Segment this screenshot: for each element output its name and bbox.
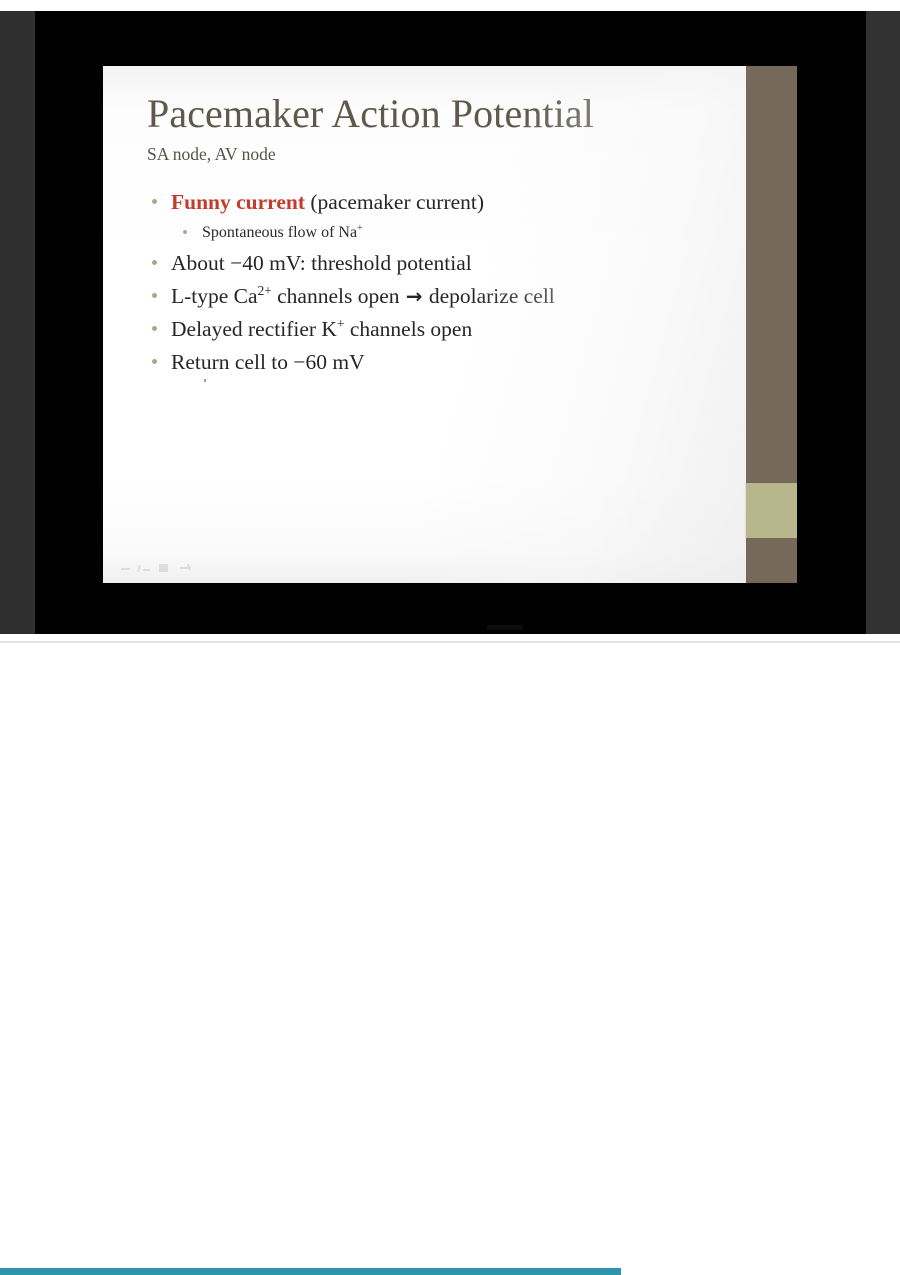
text-run: About −40 mV: threshold potential: [171, 251, 472, 275]
bullet-dot-icon: [152, 293, 157, 298]
slide-subtitle: SA node, AV node: [147, 144, 276, 165]
slide-sidebar-band-bottom: [746, 538, 797, 583]
emphasized-term: Funny current: [171, 190, 305, 214]
text-run: channels open: [272, 284, 405, 308]
bullet-text: L-type Ca2+ channels open → depolarize c…: [171, 280, 555, 313]
text-run: channels open: [344, 317, 472, 341]
bullet-item-level-1: Delayed rectifier K+ channels open: [147, 313, 727, 346]
slide-sidebar-band-accent: [745, 483, 797, 538]
right-gutter-band: [866, 11, 900, 634]
scan-artifact-dot: [204, 379, 206, 382]
bullet-text: Funny current (pacemaker current): [171, 186, 484, 219]
superscript-charge: +: [357, 223, 363, 234]
text-run: Spontaneous flow of Na: [202, 224, 357, 241]
slide-bullet-list: Funny current (pacemaker current)Spontan…: [147, 186, 727, 379]
text-run: Delayed rectifier K: [171, 317, 337, 341]
text-run: (pacemaker current): [305, 190, 484, 214]
bullet-item-level-1: Funny current (pacemaker current): [147, 186, 727, 219]
stage-artifact-smudge: [487, 625, 523, 630]
video-player[interactable]: Pacemaker Action Potential SA node, AV n…: [0, 0, 900, 650]
bullet-item-level-2: Spontaneous flow of Na+: [147, 219, 727, 247]
bullet-text: Delayed rectifier K+ channels open: [171, 313, 472, 346]
right-arrow-icon: →: [405, 285, 424, 308]
scan-artifact-footer-marks: [121, 563, 201, 574]
slide-title: Pacemaker Action Potential: [147, 93, 594, 135]
bullet-text: About −40 mV: threshold potential: [171, 247, 472, 280]
bullet-item-level-1: Return cell to −60 mV: [147, 346, 727, 379]
bullet-dot-icon: [152, 260, 157, 265]
slide-sidebar-band-top: [746, 66, 797, 484]
bullet-dot-icon: [183, 230, 187, 234]
left-gutter-band: [0, 11, 35, 634]
playback-progress-fill[interactable]: [0, 1268, 621, 1275]
presentation-slide: Pacemaker Action Potential SA node, AV n…: [103, 66, 797, 583]
top-white-strip: [0, 0, 900, 11]
bullet-text: Return cell to −60 mV: [171, 346, 365, 379]
superscript-charge: 2+: [258, 283, 272, 298]
text-run: depolarize cell: [423, 284, 554, 308]
bullet-dot-icon: [152, 359, 157, 364]
bullet-dot-icon: [152, 326, 157, 331]
bullet-item-level-1: About −40 mV: threshold potential: [147, 247, 727, 280]
playback-progress-track[interactable]: [0, 634, 900, 641]
bullet-dot-icon: [152, 199, 157, 204]
player-footer-strip: [0, 643, 900, 650]
text-run: Return cell to −60 mV: [171, 350, 365, 374]
bullet-item-level-1: L-type Ca2+ channels open → depolarize c…: [147, 280, 727, 313]
text-run: L-type Ca: [171, 284, 258, 308]
bullet-text: Spontaneous flow of Na+: [202, 219, 363, 247]
